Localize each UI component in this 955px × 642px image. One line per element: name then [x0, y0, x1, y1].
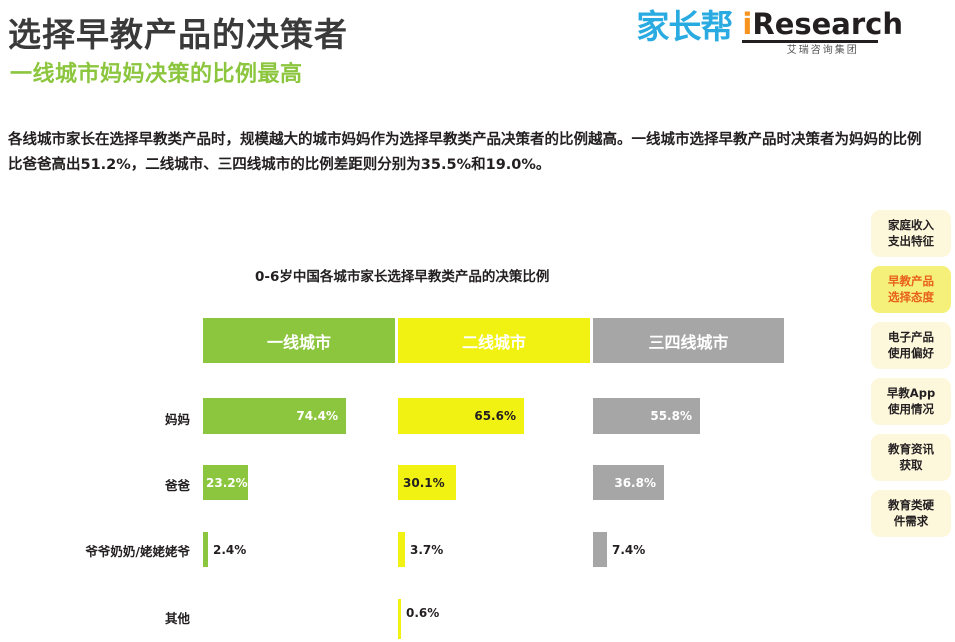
sidebar-item-2-line1: 电子产品 [874, 330, 948, 346]
bar-value-s0-c1: 23.2% [206, 476, 248, 490]
bar-value-s1-c2: 3.7% [410, 543, 443, 557]
sidebar-item-2[interactable]: 电子产品 使用偏好 [871, 322, 951, 369]
sidebar-item-1-line1: 早教产品 [874, 274, 948, 290]
bar-s2-c2: 7.4% [593, 532, 607, 567]
sidebar-item-1-line2: 选择态度 [874, 290, 948, 306]
bar-s0-c1: 23.2% [203, 465, 248, 500]
chart-legend-series-2: 三四线城市 [593, 318, 784, 363]
bar-s1-c3: 0.6% [398, 599, 401, 639]
sidebar-item-5[interactable]: 教育类硬 件需求 [871, 490, 951, 537]
sidebar-item-0-line1: 家庭收入 [874, 218, 948, 234]
row-label-0: 妈妈 [60, 409, 190, 428]
bar-value-s2-c0: 55.8% [650, 409, 692, 423]
sidebar-item-3-line2: 使用情况 [874, 402, 948, 418]
bar-value-s0-c0: 74.4% [296, 409, 338, 423]
bar-s1-c2: 3.7% [398, 532, 405, 567]
sidebar-item-4-line2: 获取 [874, 458, 948, 474]
bar-value-s1-c3: 0.6% [406, 606, 439, 620]
bar-s2-c0: 55.8% [593, 398, 700, 434]
sidebar-item-1[interactable]: 早教产品 选择态度 [871, 266, 951, 313]
sidebar-item-4-line1: 教育资讯 [874, 442, 948, 458]
bar-value-s2-c2: 7.4% [612, 543, 645, 557]
bar-s0-c0: 74.4% [203, 398, 346, 434]
sidebar-item-5-line2: 件需求 [874, 514, 948, 530]
sidebar-item-3[interactable]: 早教App 使用情况 [871, 378, 951, 425]
chart-legend-series-1: 二线城市 [398, 318, 590, 363]
bar-value-s1-c1: 30.1% [403, 476, 445, 490]
sidebar-item-0-line2: 支出特征 [874, 234, 948, 250]
bar-value-s2-c1: 36.8% [614, 476, 656, 490]
bar-s1-c1: 30.1% [398, 465, 456, 500]
bar-s1-c0: 65.6% [398, 398, 524, 434]
bar-value-s1-c0: 65.6% [474, 409, 516, 423]
sidebar: 家庭收入 支出特征 早教产品 选择态度 电子产品 使用偏好 早教App 使用情况… [871, 210, 951, 546]
row-label-3: 其他 [60, 608, 190, 627]
row-label-2: 爷爷奶奶/姥姥姥爷 [40, 541, 190, 560]
sidebar-item-0[interactable]: 家庭收入 支出特征 [871, 210, 951, 257]
chart-legend-series-0: 一线城市 [203, 318, 395, 363]
sidebar-item-2-line2: 使用偏好 [874, 346, 948, 362]
bar-s0-c2: 2.4% [203, 532, 208, 567]
row-label-1: 爸爸 [60, 475, 190, 494]
bar-value-s0-c2: 2.4% [213, 543, 246, 557]
sidebar-item-5-line1: 教育类硬 [874, 498, 948, 514]
chart-canvas: 一线城市 二线城市 三四线城市 妈妈 爸爸 爷爷奶奶/姥姥姥爷 其他 74.4%… [0, 0, 955, 642]
sidebar-item-3-line1: 早教App [874, 386, 948, 402]
bar-s2-c1: 36.8% [593, 465, 664, 500]
sidebar-item-4[interactable]: 教育资讯 获取 [871, 434, 951, 481]
